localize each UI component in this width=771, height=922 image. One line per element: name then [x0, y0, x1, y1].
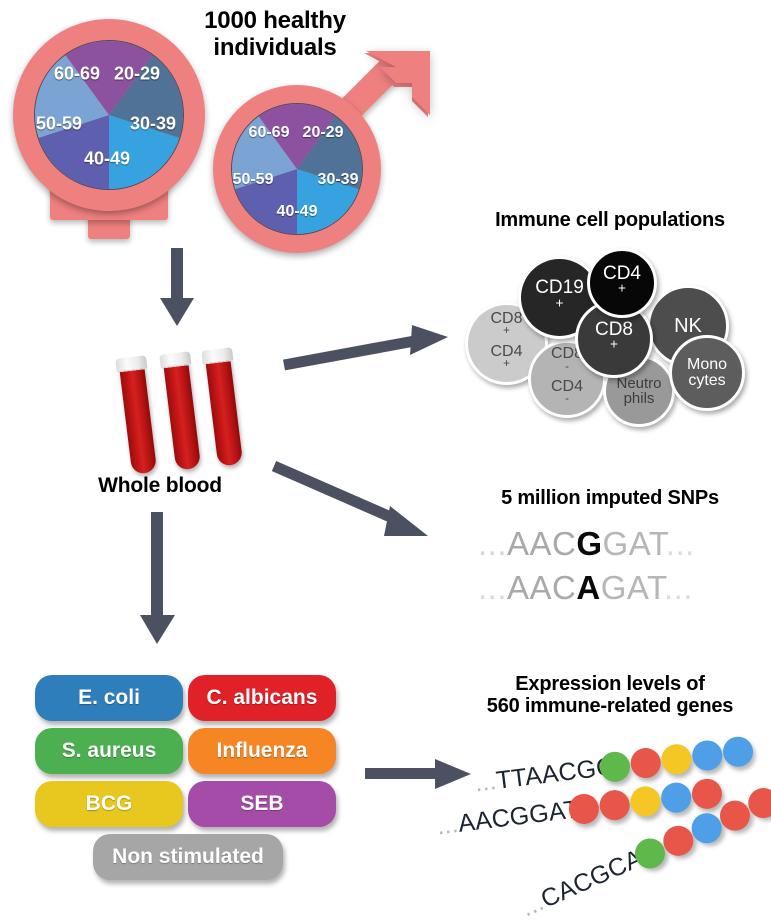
blood-tube-2: [162, 351, 202, 475]
male-pie-label-20-29: 20-29: [303, 124, 344, 142]
snp-row-1-prefix: ...: [478, 525, 507, 562]
arrow-blood-to-stimulation: [135, 512, 181, 647]
pie-label-40-49: 40-49: [84, 149, 130, 170]
immune-cell-cd8pos-cd4pos-line2: CD4+: [490, 344, 522, 377]
figure-canvas: 1000 healthy individuals 20-29 30-39 40-…: [0, 0, 771, 922]
pie-label-60-69: 60-69: [54, 64, 100, 85]
snp-row-1: ...AACGGAT...: [478, 525, 695, 563]
blood-tube-1-fill: [119, 364, 157, 474]
gene-strand-1-bead-2: [629, 746, 662, 779]
snp-row-1-post: GAT: [603, 525, 666, 562]
male-pie-label-30-39: 30-39: [318, 171, 359, 189]
snp-row-2-prefix: ...: [478, 569, 507, 606]
immune-cell-monocytes-line2: cytes: [687, 373, 727, 389]
arrow-cohort-to-blood: [155, 248, 199, 328]
blood-tube-1: [118, 355, 158, 479]
gene-strand-2-bead-3: [629, 785, 662, 818]
immune-section-title: Immune cell populations: [450, 209, 770, 231]
male-pie-label-60-69: 60-69: [249, 124, 290, 142]
stimulation-pill-e-coli[interactable]: E. coli: [35, 675, 183, 721]
snp-row-1-pre: AAC: [507, 525, 576, 562]
immune-cell-cd8neg-cd4neg-line2: CD4-: [551, 379, 583, 412]
immune-cell-cd8pos-cd4pos-line1: CD8+: [490, 311, 522, 344]
immune-cell-cluster: CD8+ CD4+ CD8- CD4- Neutro phils Mono cy…: [455, 240, 771, 425]
gene-strands: ...TTAACGG ...AACGGAT ...CACGCAA: [455, 735, 771, 915]
genes-section-title-line2: 560 immune-related genes: [452, 695, 768, 717]
arrow-blood-to-snps: [272, 460, 452, 550]
male-symbol: 20-29 30-39 40-49 50-59 60-69: [205, 55, 420, 255]
snp-row-2: ...AACAGAT...: [478, 569, 693, 607]
arrow-blood-to-immune: [282, 325, 452, 385]
immune-cell-nk-label: NK: [674, 316, 702, 336]
immune-cell-monocytes: Mono cytes: [669, 335, 745, 411]
whole-blood-label: Whole blood: [60, 474, 260, 498]
stimulation-pill-influenza[interactable]: Influenza: [188, 728, 336, 774]
male-pie-label-40-49: 40-49: [277, 203, 318, 221]
immune-cell-neutrophils-line1: Neutro: [616, 376, 661, 391]
gene-strand-2-bead-4: [659, 781, 692, 814]
snp-row-1-suffix: ...: [666, 525, 695, 562]
stimulation-pill-non-stimulated[interactable]: Non stimulated: [93, 834, 283, 880]
female-symbol: 20-29 30-39 40-49 50-59 60-69: [6, 14, 216, 239]
blood-tube-2-fill: [163, 360, 201, 470]
stimulation-pill-s-aureus[interactable]: S. aureus: [35, 728, 183, 774]
gene-strand-1-bead-5: [721, 735, 754, 768]
blood-tube-3: [204, 347, 244, 471]
snp-row-2-variant: A: [576, 569, 600, 606]
snp-row-1-variant: G: [576, 525, 602, 562]
blood-tubes: [112, 345, 242, 475]
snp-row-2-pre: AAC: [507, 569, 576, 606]
stimulation-pill-c-albicans[interactable]: C. albicans: [188, 675, 336, 721]
blood-tube-3-fill: [205, 356, 243, 466]
genes-section-title-line1: Expression levels of: [452, 673, 768, 695]
pie-label-30-39: 30-39: [130, 114, 176, 135]
gene-strand-2-bead-2: [598, 788, 631, 821]
immune-cell-cd8pos-label: CD8+: [595, 320, 633, 359]
immune-cell-cd4pos: CD4+: [587, 248, 657, 318]
gene-strand-1-bead-3: [660, 743, 693, 776]
snps-section-title: 5 million imputed SNPs: [450, 487, 770, 509]
stimulation-pill-bcg[interactable]: BCG: [35, 781, 183, 827]
snp-sequences: ...AACGGAT... ...AACAGAT...: [478, 525, 748, 615]
pie-label-20-29: 20-29: [114, 64, 160, 85]
immune-cell-neutrophils-line2: phils: [616, 391, 661, 406]
gene-strand-2-sequence: ...AACGGAT: [435, 795, 581, 841]
snp-row-2-post: GAT: [601, 569, 664, 606]
male-pie-label-50-59: 50-59: [233, 171, 274, 189]
gene-strand-1-bead-4: [691, 739, 724, 772]
genes-section-title: Expression levels of 560 immune-related …: [452, 673, 768, 718]
snp-row-2-suffix: ...: [664, 569, 693, 606]
immune-cell-cd4pos-label: CD4+: [603, 264, 641, 303]
pie-label-50-59: 50-59: [36, 114, 82, 135]
stimulation-pill-seb[interactable]: SEB: [188, 781, 336, 827]
stimulation-panel: E. coli C. albicans S. aureus Influenza …: [30, 675, 350, 895]
immune-cell-cd19pos-label: CD19+: [535, 278, 584, 317]
immune-cell-monocytes-line1: Mono: [687, 357, 727, 373]
